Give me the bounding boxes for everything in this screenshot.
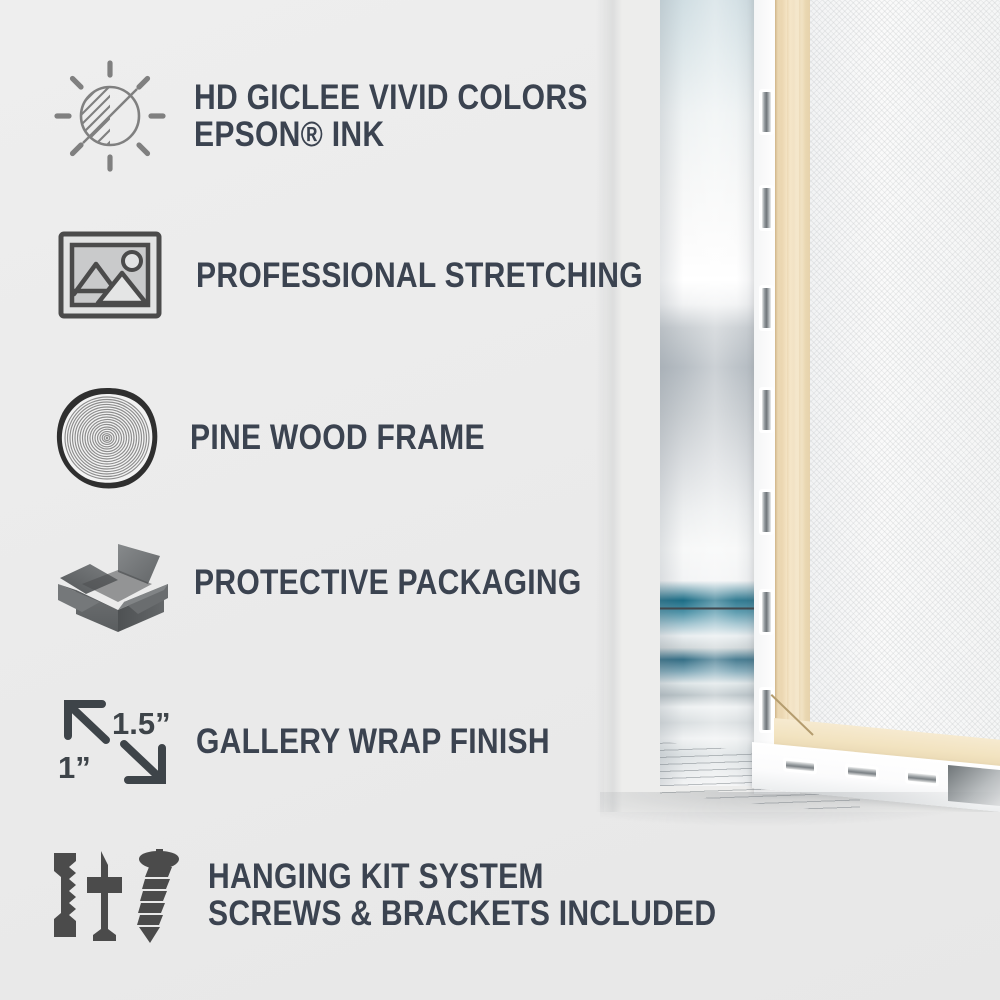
feature-label-hd-giclee: HD GICLEE VIVID COLORS EPSON® INK	[194, 79, 588, 154]
sun-icon	[52, 58, 168, 174]
infographic-canvas: HD GICLEE VIVID COLORS EPSON® INK PROFES…	[0, 0, 1000, 1000]
feature-label-line: HD GICLEE VIVID COLORS	[194, 79, 588, 116]
feature-item-protective-packaging: PROTECTIVE PACKAGING	[52, 528, 645, 638]
feature-item-gallery-wrap-finish: 1.5” 1” GALLERY WRAP FINISH	[52, 690, 607, 794]
feature-label-line: GALLERY WRAP FINISH	[196, 723, 550, 760]
feature-label-line: PROTECTIVE PACKAGING	[194, 564, 582, 601]
feature-list: HD GICLEE VIVID COLORS EPSON® INK PROFES…	[0, 0, 660, 1000]
gallery-wrap-printed-edge	[660, 0, 766, 786]
feature-label-protective-packaging: PROTECTIVE PACKAGING	[194, 564, 582, 601]
feature-label-line: EPSON® INK	[194, 116, 588, 153]
feature-item-hd-giclee: HD GICLEE VIVID COLORS EPSON® INK	[52, 58, 652, 174]
feature-label-line: HANGING KIT SYSTEM	[208, 858, 716, 895]
feature-label-pine-wood-frame: PINE WOOD FRAME	[190, 419, 485, 456]
pine-stretcher-bar	[775, 0, 813, 752]
feature-label-professional-stretching: PROFESSIONAL STRETCHING	[196, 257, 643, 294]
measurement-width: 1”	[58, 750, 91, 785]
feature-item-pine-wood-frame: PINE WOOD FRAME	[52, 385, 533, 491]
feature-item-professional-stretching: PROFESSIONAL STRETCHING	[52, 228, 716, 324]
feature-label-hanging-kit: HANGING KIT SYSTEM SCREWS & BRACKETS INC…	[208, 858, 716, 933]
staple	[762, 592, 771, 632]
canvas-edge-closeup-photo	[604, 0, 1000, 812]
staple	[762, 492, 771, 532]
measurement-depth: 1.5”	[112, 706, 171, 741]
hanging-hardware-icon	[46, 845, 186, 945]
feature-label-line: PROFESSIONAL STRETCHING	[196, 257, 643, 294]
feature-label-line: SCREWS & BRACKETS INCLUDED	[208, 895, 716, 932]
feature-label-gallery-wrap-finish: GALLERY WRAP FINISH	[196, 723, 550, 760]
feature-label-line: PINE WOOD FRAME	[190, 419, 485, 456]
staple	[762, 288, 771, 328]
tree-rings-icon	[52, 385, 162, 491]
canvas-backing-texture	[810, 0, 1000, 752]
framed-picture-icon	[52, 228, 168, 324]
open-box-icon	[52, 528, 176, 638]
feature-item-hanging-kit: HANGING KIT SYSTEM SCREWS & BRACKETS INC…	[46, 845, 799, 945]
dimension-arrows-icon: 1.5” 1”	[52, 690, 178, 794]
staple	[762, 92, 771, 132]
photo-drop-shadow	[600, 792, 1000, 826]
staple	[762, 390, 771, 430]
wrap-fold-line	[660, 596, 766, 626]
staple	[762, 188, 771, 228]
